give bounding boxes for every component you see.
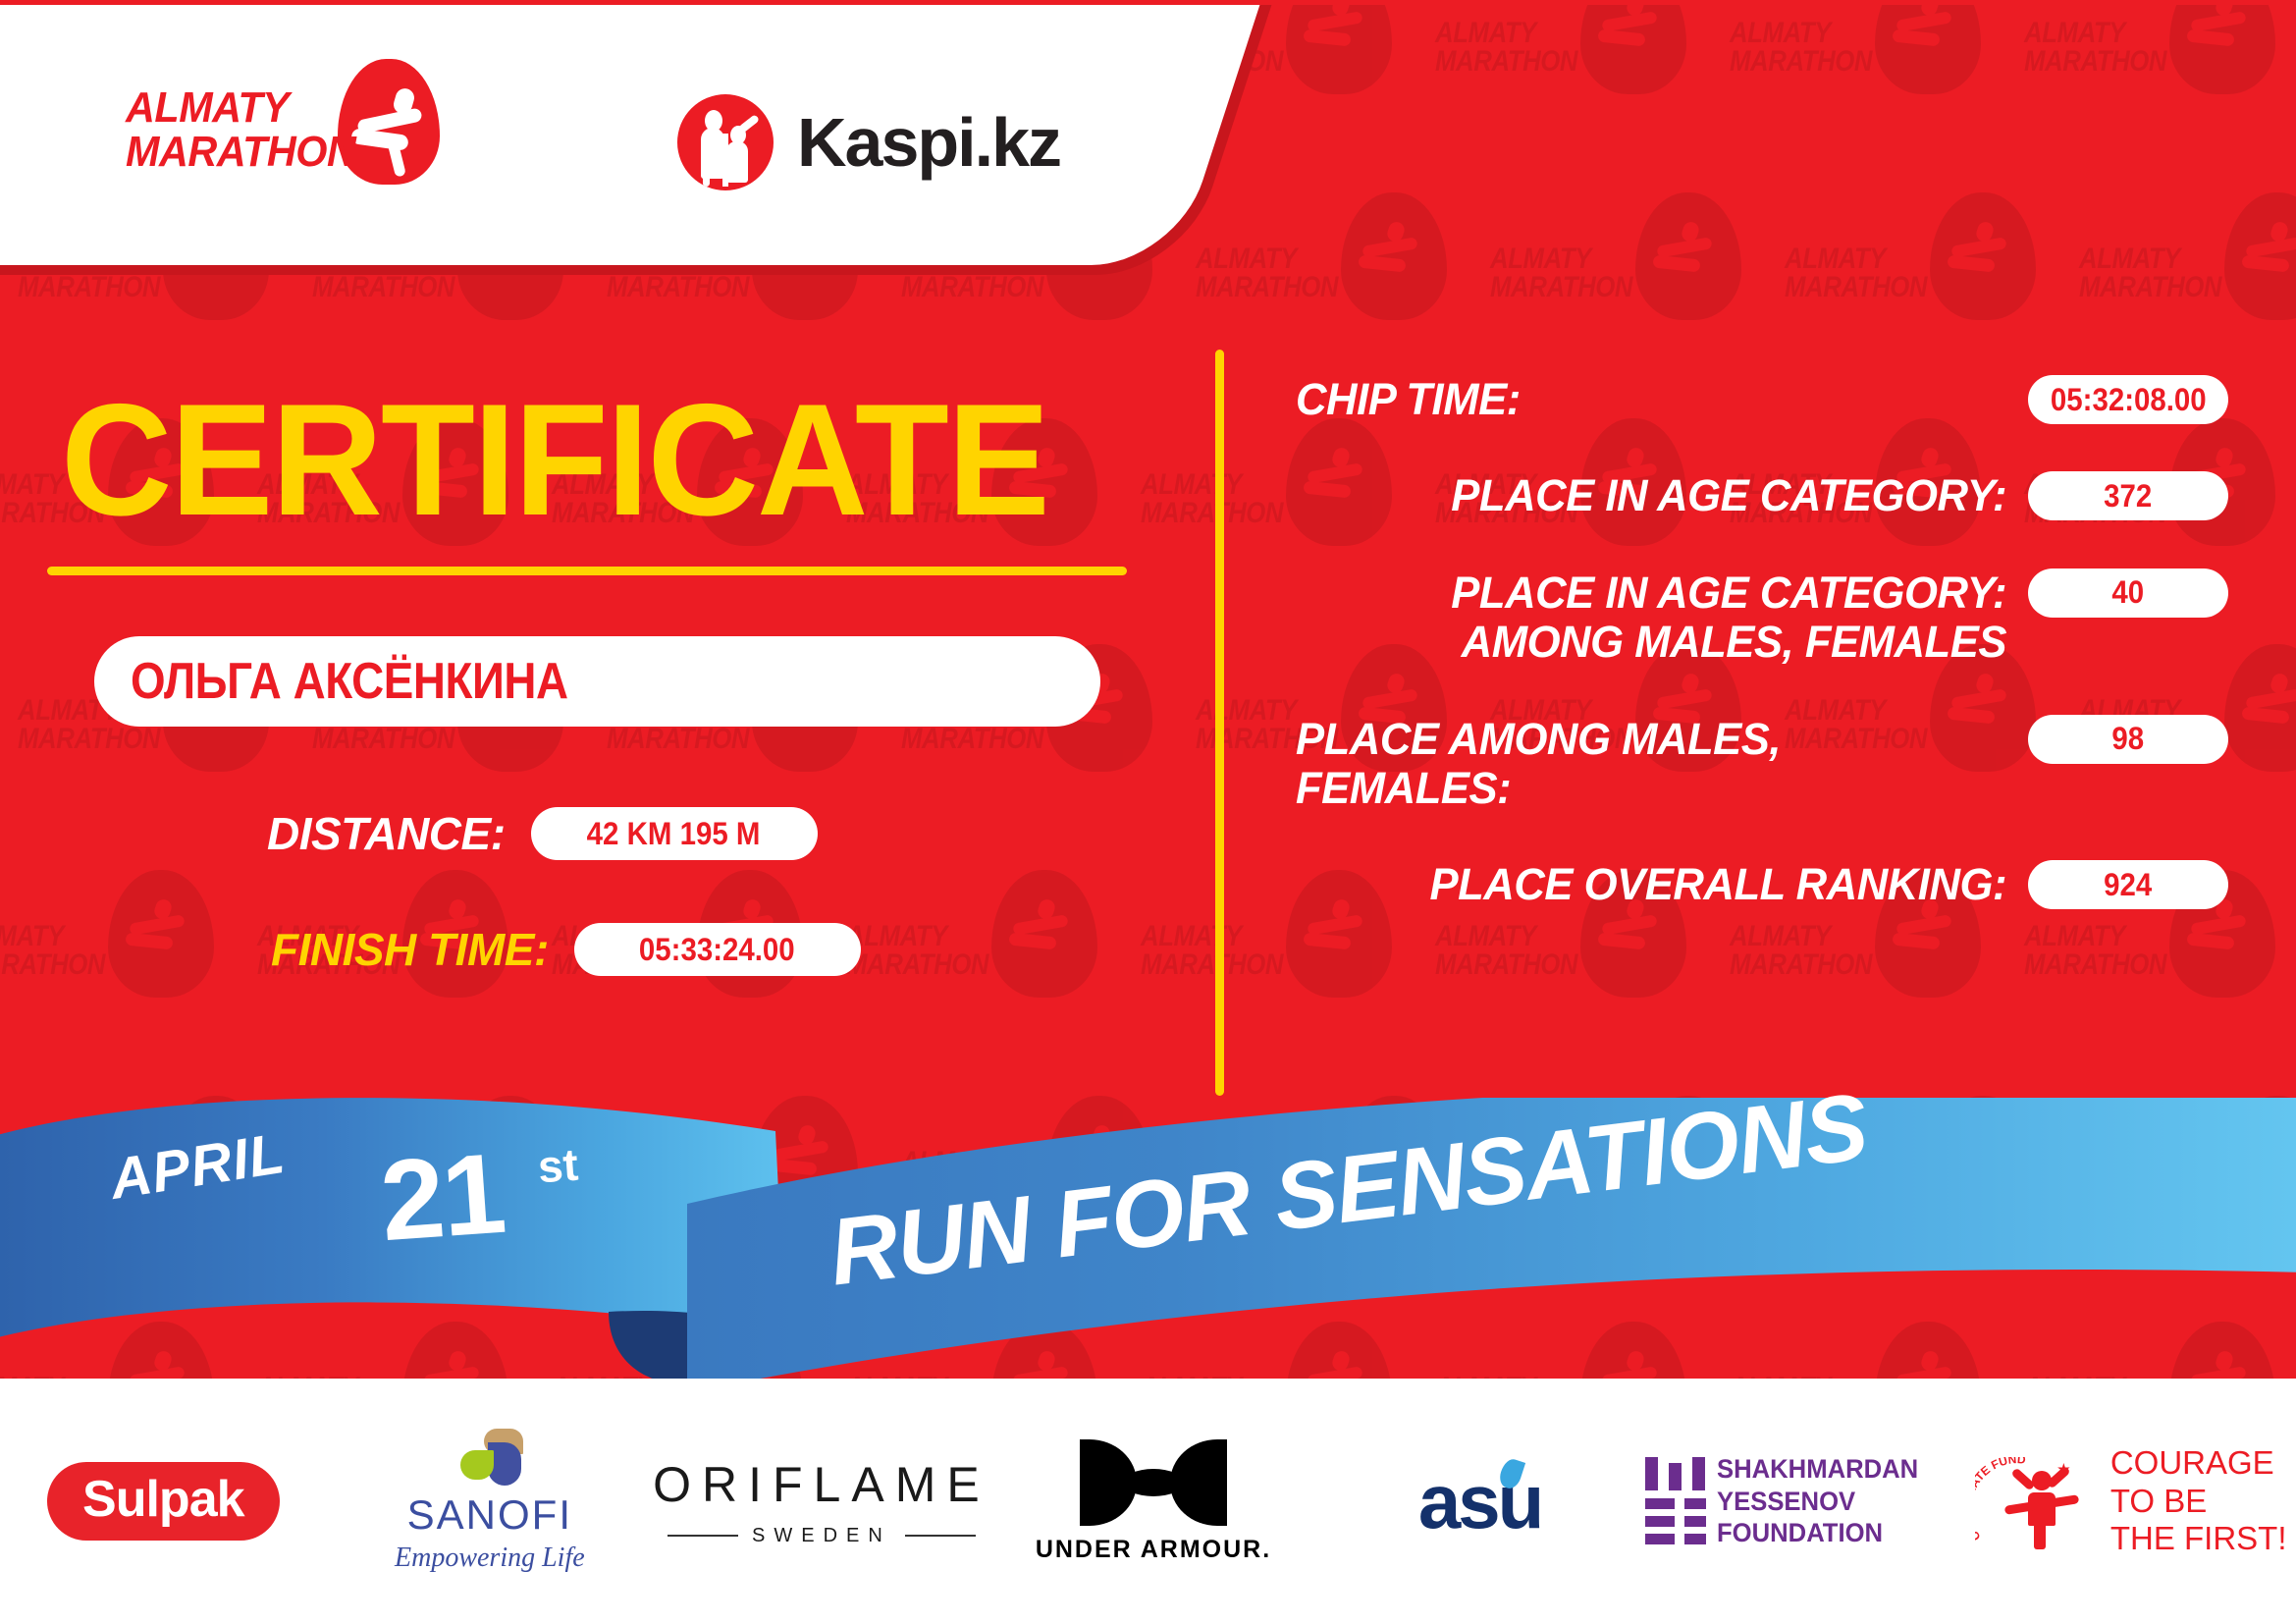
watermark-wordmark: ALMATY MARATHON	[1196, 245, 1322, 301]
watermark-tile: ALMATY MARATHON	[0, 864, 255, 1090]
courage-leg	[2034, 1522, 2046, 1549]
watermark-runner-icon	[1304, 1357, 1374, 1379]
place-overall-label: PLACE OVERALL RANKING:	[1317, 860, 2006, 909]
place-age-category-value-pill: 372	[2028, 471, 2228, 520]
watermark-runner-icon	[1948, 1131, 2018, 1176]
watermark-teardrop-icon	[1635, 192, 1741, 320]
stat-row-place-among-gender: PLACE AMONG MALES, FEMALES: 98	[1296, 715, 2228, 814]
yessenov-foundation-logo	[1643, 1457, 1695, 1545]
kaspi-child-body-icon	[726, 141, 748, 183]
watermark-runner-icon	[2187, 1357, 2258, 1379]
watermark-runner-icon	[126, 1357, 196, 1379]
watermark-wordmark: ALMATY MARATHON	[1785, 245, 1911, 301]
yessenov-bar-3	[1692, 1457, 1705, 1490]
sponsor-yessenov-foundation: SHAKHMARDAN YESSENOV FOUNDATION	[1643, 1428, 1970, 1575]
watermark-runner-icon	[2242, 679, 2296, 725]
ribbon-day-label: 21	[376, 1127, 507, 1267]
yessenov-bar-5	[1684, 1498, 1706, 1509]
watermark-runner-icon	[715, 1357, 785, 1379]
sponsor-bar: Sulpak SANOFI Empowering Life ORIFLAME S…	[0, 1379, 2296, 1624]
watermark-runner-icon	[2187, 2, 2258, 47]
watermark-runner-icon	[1304, 2, 1374, 47]
watermark-tile: ALMATY MARATHON	[844, 1316, 1139, 1379]
watermark-tile: ALMATY MARATHON	[1728, 0, 2022, 187]
stat-row-place-age-category: PLACE IN AGE CATEGORY: 372	[1296, 471, 2228, 520]
stat-row-place-overall: PLACE OVERALL RANKING: 924	[1296, 860, 2228, 909]
watermark-teardrop-icon	[1580, 1322, 1686, 1379]
distance-label: DISTANCE:	[267, 807, 506, 860]
chip-time-value: 05:32:08.00	[2051, 382, 2207, 418]
watermark-wordmark: ALMATY MARATHON	[1730, 20, 1856, 76]
watermark-wordmark: ALMATY MARATHON	[846, 923, 973, 979]
marathon-certificate: ALMATY MARATHONALMATY MARATHONALMATY MAR…	[0, 0, 2296, 1624]
watermark-teardrop-icon	[1875, 1322, 1981, 1379]
certificate-title: CERTIFICATE	[61, 381, 1098, 540]
watermark-runner-icon	[2242, 228, 2296, 273]
place-age-category-gender-label: PLACE IN AGE CATEGORY: AMONG MALES, FEMA…	[1317, 568, 2006, 668]
asu-droplet-logo: asu	[1418, 1457, 1541, 1546]
watermark-runner-icon	[1009, 1357, 1080, 1379]
oriflame-wordmark: ORIFLAME	[653, 1456, 990, 1513]
sanofi-tagline: Empowering Life	[395, 1543, 585, 1574]
yessenov-bar-9	[1684, 1534, 1706, 1544]
watermark-runner-icon	[2242, 1131, 2296, 1176]
distance-value: 42 KM 195 M	[587, 816, 761, 852]
ribbon-ordinal-label: st	[536, 1138, 580, 1194]
sanofi-wordmark: SANOFI	[395, 1491, 585, 1539]
yessenov-foundation-wordmark: SHAKHMARDAN YESSENOV FOUNDATION	[1717, 1453, 1957, 1550]
watermark-wordmark: ALMATY MARATHON	[2024, 20, 2151, 76]
courage-runner-icon	[2012, 1461, 2081, 1549]
watermark-runner-icon	[1893, 2, 1963, 47]
watermark-tile: ALMATY MARATHON	[1433, 1316, 1728, 1379]
watermark-wordmark: ALMATY MARATHON	[1490, 245, 1617, 301]
watermark-teardrop-icon	[1286, 1322, 1392, 1379]
watermark-runner-icon	[1893, 1357, 1963, 1379]
almaty-marathon-logo: ALMATY MARATHON	[126, 61, 440, 208]
watermark-teardrop-icon	[2224, 192, 2296, 320]
watermark-teardrop-icon	[1875, 0, 1981, 94]
watermark-tile: ALMATY MARATHON	[1728, 1316, 2022, 1379]
stat-row-place-age-category-gender: PLACE IN AGE CATEGORY: AMONG MALES, FEMA…	[1296, 568, 2228, 668]
finish-time-value-pill: 05:33:24.00	[574, 923, 861, 976]
watermark-runner-icon	[420, 1357, 491, 1379]
watermark-wordmark: ALMATY MARATHON	[1141, 471, 1267, 527]
watermark-teardrop-icon	[1580, 0, 1686, 94]
sanofi-mark-green	[460, 1450, 494, 1480]
watermark-runner-icon	[126, 905, 196, 950]
watermark-teardrop-icon	[108, 870, 214, 998]
watermark-teardrop-icon	[2224, 644, 2296, 772]
sponsor-oriflame: ORIFLAME SWEDEN	[653, 1428, 990, 1575]
oriflame-rule-right	[905, 1535, 976, 1537]
sponsor-courage-to-be-the-first: CORPORATE FUND COURAGE TO BE THE FIRST!	[1969, 1428, 2296, 1575]
place-overall-value-pill: 924	[2028, 860, 2228, 909]
under-armour-wordmark: UNDER ARMOUR.	[1036, 1536, 1271, 1564]
sponsor-sanofi: SANOFI Empowering Life	[327, 1428, 654, 1575]
kaspi-logo: Kaspi.kz	[677, 94, 1060, 190]
finish-time-label: FINISH TIME:	[271, 923, 549, 976]
ua-center-hole	[1131, 1475, 1176, 1490]
header-content: ALMATY MARATHON Kaspi.kz	[0, 0, 1178, 267]
watermark-teardrop-icon	[1930, 1096, 2036, 1223]
finish-time-value: 05:33:24.00	[639, 932, 795, 968]
runner-icon	[349, 90, 432, 175]
chip-time-label: CHIP TIME:	[1296, 375, 1985, 424]
sponsor-sulpak: Sulpak	[0, 1428, 327, 1575]
place-age-category-gender-value-pill: 40	[2028, 568, 2228, 618]
stat-row-finish-time: FINISH TIME: 05:33:24.00	[271, 923, 861, 976]
watermark-teardrop-icon	[1930, 192, 2036, 320]
oriflame-country-label: SWEDEN	[752, 1525, 891, 1547]
watermark-teardrop-icon	[991, 1322, 1097, 1379]
watermark-runner-icon	[1598, 1357, 1669, 1379]
watermark-teardrop-icon	[1341, 192, 1447, 320]
watermark-teardrop-icon	[108, 1322, 214, 1379]
yessenov-bar-1	[1645, 1457, 1658, 1490]
yessenov-bar-4	[1645, 1498, 1675, 1509]
watermark-tile: ALMATY MARATHON	[2022, 0, 2296, 187]
watermark-tile: ALMATY MARATHON	[255, 1316, 550, 1379]
participant-name-field: ОЛЬГА АКСЁНКИНА	[94, 636, 1100, 727]
column-divider	[1215, 350, 1224, 1096]
chip-time-value-pill: 05:32:08.00	[2028, 375, 2228, 424]
watermark-runner-icon	[770, 1131, 840, 1176]
watermark-wordmark: ALMATY MARATHON	[2079, 245, 2206, 301]
watermark-teardrop-icon	[991, 870, 1097, 998]
under-armour-logo	[1080, 1439, 1227, 1526]
oriflame-rule-left	[667, 1535, 738, 1537]
yessenov-bar-6	[1645, 1516, 1675, 1527]
place-among-gender-label: PLACE AMONG MALES, FEMALES:	[1296, 715, 1985, 814]
results-column: CHIP TIME: 05:32:08.00 PLACE IN AGE CATE…	[1296, 375, 2228, 957]
watermark-runner-icon	[1653, 228, 1724, 273]
watermark-tile: ALMATY MARATHON	[0, 1316, 255, 1379]
sanofi-bird-logo	[454, 1429, 525, 1486]
watermark-runner-icon	[1359, 228, 1429, 273]
watermark-tile: ALMATY MARATHON	[550, 864, 844, 1090]
runner-body-icon	[350, 128, 409, 151]
watermark-tile: ALMATY MARATHON	[1433, 0, 1728, 187]
watermark-wordmark: ALMATY MARATHON	[1435, 20, 1562, 76]
place-among-gender-value-pill: 98	[2028, 715, 2228, 764]
watermark-runner-icon	[1009, 905, 1080, 950]
watermark-wordmark: ALMATY MARATHON	[607, 1149, 733, 1205]
watermark-tile: ALMATY MARATHON	[550, 1316, 844, 1379]
sponsor-asu: asu	[1316, 1428, 1643, 1575]
courage-head	[2032, 1471, 2052, 1490]
sponsor-under-armour: UNDER ARMOUR.	[990, 1428, 1317, 1575]
courage-to-be-the-first-logo: CORPORATE FUND	[1979, 1447, 2095, 1555]
stat-row-distance: DISTANCE: 42 KM 195 M	[267, 807, 818, 860]
watermark-teardrop-icon	[2169, 0, 2275, 94]
sulpak-logo: Sulpak	[47, 1462, 280, 1541]
distance-value-pill: 42 KM 195 M	[531, 807, 818, 860]
watermark-tile: ALMATY MARATHON	[255, 864, 550, 1090]
watermark-teardrop-icon	[2224, 1096, 2296, 1223]
courage-slogan: COURAGE TO BE THE FIRST!	[2110, 1444, 2287, 1559]
place-among-gender-value: 98	[2112, 721, 2145, 757]
watermark-teardrop-icon	[1286, 0, 1392, 94]
watermark-tile: ALMATY MARATHON	[844, 864, 1139, 1090]
watermark-teardrop-icon	[402, 1322, 508, 1379]
yessenov-bar-2	[1669, 1463, 1682, 1490]
place-age-category-gender-value: 40	[2112, 574, 2145, 611]
watermark-teardrop-icon	[697, 1322, 803, 1379]
watermark-wordmark: ALMATY MARATHON	[1141, 923, 1267, 979]
yessenov-bar-8	[1645, 1534, 1675, 1544]
watermark-runner-icon	[1598, 2, 1669, 47]
watermark-tile: ALMATY MARATHON	[1139, 1316, 1433, 1379]
watermark-teardrop-icon	[2169, 1322, 2275, 1379]
watermark-tile: ALMATY MARATHON	[2077, 1090, 2296, 1316]
place-age-category-label: PLACE IN AGE CATEGORY:	[1317, 471, 2006, 520]
kaspi-adult-child-circle-icon	[677, 94, 774, 190]
kaspi-figure-gap	[722, 134, 728, 187]
place-overall-value: 924	[2104, 867, 2152, 903]
stat-row-chip-time: CHIP TIME: 05:32:08.00	[1296, 375, 2228, 424]
watermark-wordmark: ALMATY MARATHON	[0, 923, 89, 979]
watermark-runner-icon	[1948, 228, 2018, 273]
watermark-tile: ALMATY MARATHON	[2022, 1316, 2296, 1379]
watermark-wordmark: ALMATY MARATHON	[2079, 1149, 2206, 1205]
yessenov-bar-7	[1684, 1516, 1706, 1527]
kaspi-child-arm-icon	[738, 114, 760, 134]
certificate-title-underline	[47, 567, 1127, 575]
place-age-category-value: 372	[2104, 478, 2152, 514]
kaspi-wordmark: Kaspi.kz	[797, 103, 1060, 182]
kaspi-adult-leg-icon	[703, 163, 710, 187]
almaty-marathon-wordmark: ALMATY MARATHON	[126, 86, 334, 175]
participant-name-value: ОЛЬГА АКСЁНКИНА	[94, 652, 568, 711]
